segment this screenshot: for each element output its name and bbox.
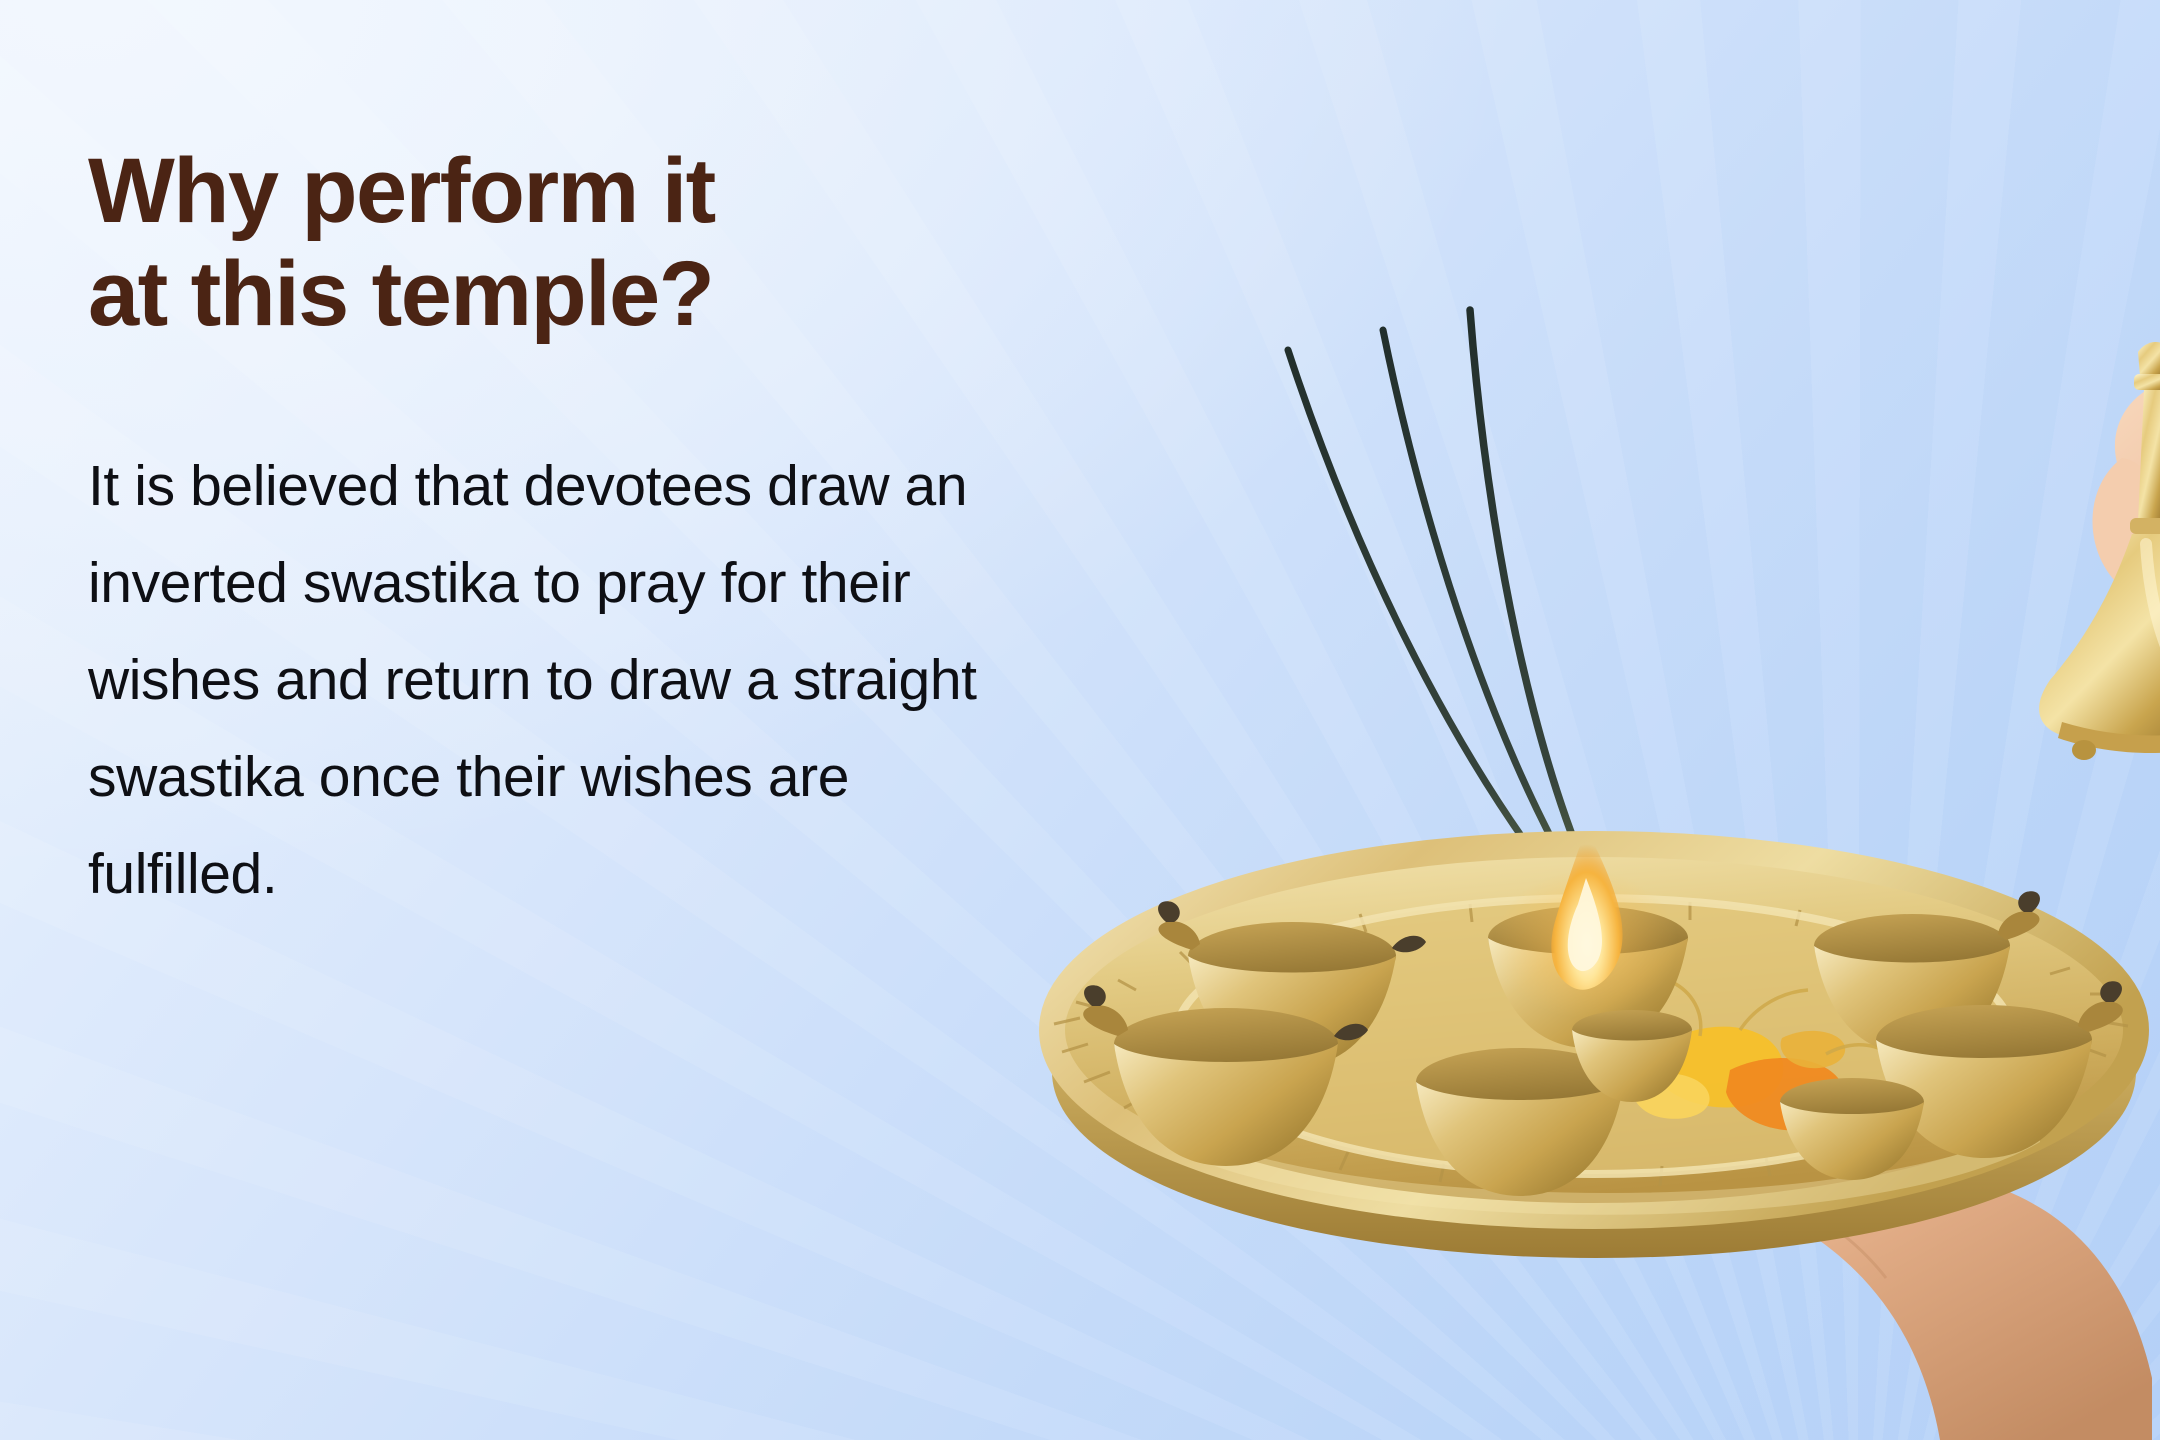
- text-column: Why perform it at this temple? It is bel…: [88, 140, 1048, 923]
- pooja-thali-photo: [1040, 330, 2160, 1440]
- page-title: Why perform it at this temple?: [88, 140, 1048, 346]
- pooja-scene-illustration: [1040, 330, 2160, 1440]
- headline-line-1: Why perform it: [88, 140, 1048, 243]
- body-paragraph: It is believed that devotees draw an inv…: [88, 346, 1018, 922]
- slide-canvas: Why perform it at this temple? It is bel…: [0, 0, 2160, 1440]
- headline-line-2: at this temple?: [88, 243, 1048, 346]
- bell-and-hand-group: [2039, 342, 2160, 852]
